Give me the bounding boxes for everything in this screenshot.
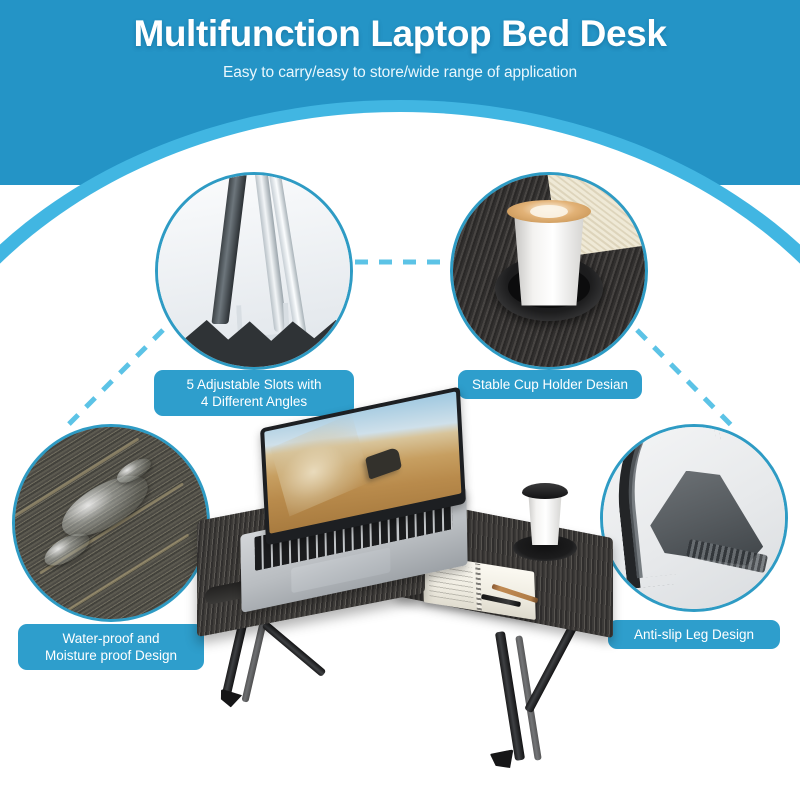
waterproof-surface-photo: [12, 424, 210, 622]
cup-holder-photo: [450, 172, 648, 370]
feature-water-proof: Water-proof and Moisture proof Design: [12, 424, 210, 622]
leg-foot-front-right: [490, 749, 517, 771]
cup-holder-image: [453, 175, 645, 367]
wallpaper-motorbike-rider: [365, 447, 401, 480]
feature-label-anti-slip-leg: Anti-slip Leg Design: [608, 620, 780, 649]
anti-slip-leg-image: [603, 427, 785, 609]
leg-cross-brace-left: [262, 621, 327, 677]
desk-coffee-cup-lid: [522, 483, 568, 499]
hinge-slots-image: [158, 175, 350, 367]
feature-adjustable-slots: 5 Adjustable Slots with 4 Different Angl…: [155, 172, 353, 370]
product-image: [195, 395, 615, 795]
hinge-dark-bar: [212, 172, 249, 325]
feature-label-water-proof: Water-proof and Moisture proof Design: [18, 624, 204, 670]
waterproof-surface-image: [15, 427, 207, 619]
page-title: Multifunction Laptop Bed Desk: [0, 13, 800, 55]
product-infographic: Multifunction Laptop Bed Desk Easy to ca…: [0, 0, 800, 800]
leg-foot-front-left: [217, 689, 242, 710]
hinge-slots-photo: [155, 172, 353, 370]
leg-rear-right: [524, 621, 579, 714]
anti-slip-leg-photo: [600, 424, 788, 612]
feature-cup-holder: Stable Cup Holder Desian: [450, 172, 648, 370]
notebook-spiral-binding: [475, 563, 482, 610]
wallpaper-dust-cloud: [270, 414, 371, 517]
page-subtitle: Easy to carry/easy to store/wide range o…: [0, 64, 800, 82]
feature-anti-slip-leg: Anti-slip Leg Design: [600, 424, 788, 612]
